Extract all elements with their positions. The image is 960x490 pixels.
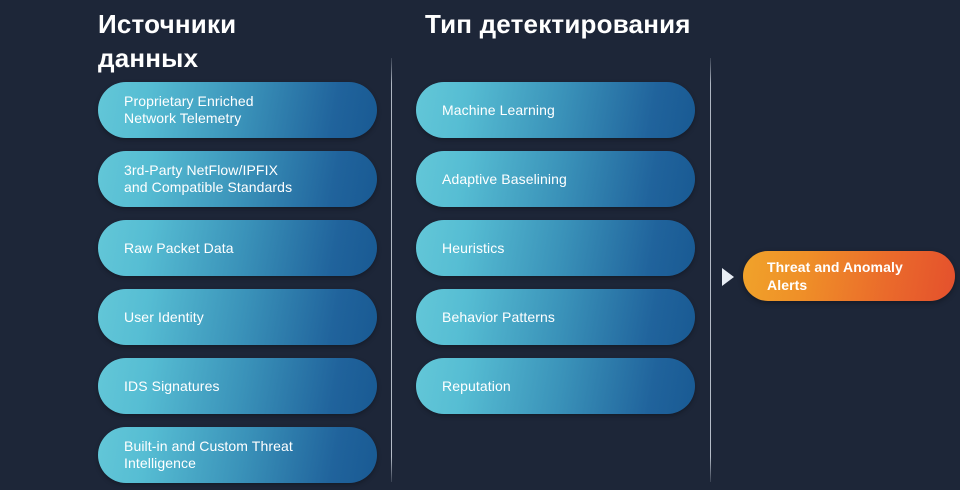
column-title-detection: Тип детектирования (425, 7, 755, 41)
divider-after-detection (710, 58, 711, 482)
diagram-canvas: Источники данных Тип детектирования Prop… (0, 0, 960, 490)
source-pill-4-label: User Identity (124, 309, 204, 326)
source-pill-2-label: 3rd-Party NetFlow/IPFIX and Compatible S… (124, 162, 292, 196)
source-pill-2[interactable]: 3rd-Party NetFlow/IPFIX and Compatible S… (98, 151, 377, 207)
detection-pill-2-label: Adaptive Baselining (442, 171, 567, 188)
triangle-right-icon (722, 268, 734, 286)
column-sources: Proprietary Enriched Network Telemetry 3… (98, 82, 377, 483)
source-pill-6-label: Built-in and Custom Threat Intelligence (124, 438, 293, 472)
source-pill-1-label: Proprietary Enriched Network Telemetry (124, 93, 254, 127)
source-pill-3[interactable]: Raw Packet Data (98, 220, 377, 276)
source-pill-6[interactable]: Built-in and Custom Threat Intelligence (98, 427, 377, 483)
detection-pill-4[interactable]: Behavior Patterns (416, 289, 695, 345)
source-pill-5-label: IDS Signatures (124, 378, 220, 395)
output-pill-label: Threat and Anomaly Alerts (767, 258, 903, 294)
source-pill-1[interactable]: Proprietary Enriched Network Telemetry (98, 82, 377, 138)
source-pill-3-label: Raw Packet Data (124, 240, 234, 257)
source-pill-4[interactable]: User Identity (98, 289, 377, 345)
detection-pill-3-label: Heuristics (442, 240, 504, 257)
detection-pill-3[interactable]: Heuristics (416, 220, 695, 276)
detection-pill-1-label: Machine Learning (442, 102, 555, 119)
output-pill-threat-alerts[interactable]: Threat and Anomaly Alerts (743, 251, 955, 301)
column-title-sources: Источники данных (98, 7, 358, 75)
detection-pill-4-label: Behavior Patterns (442, 309, 555, 326)
detection-pill-2[interactable]: Adaptive Baselining (416, 151, 695, 207)
detection-pill-5-label: Reputation (442, 378, 511, 395)
detection-pill-1[interactable]: Machine Learning (416, 82, 695, 138)
source-pill-5[interactable]: IDS Signatures (98, 358, 377, 414)
column-detection: Machine Learning Adaptive Baselining Heu… (416, 82, 695, 414)
detection-pill-5[interactable]: Reputation (416, 358, 695, 414)
divider-after-sources (391, 58, 392, 482)
